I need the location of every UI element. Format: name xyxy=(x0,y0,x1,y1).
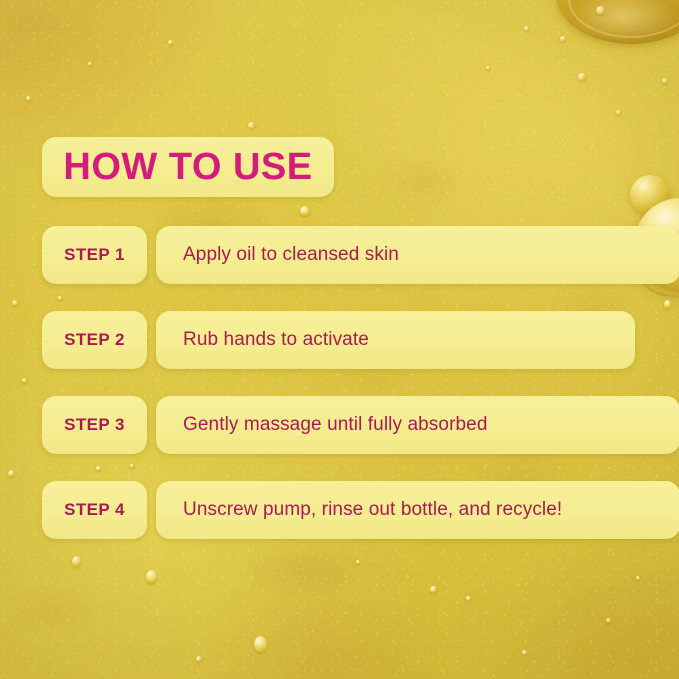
step-description-card: Rub hands to activate xyxy=(156,311,635,369)
step-description-text: Gently massage until fully absorbed xyxy=(183,414,488,436)
step-description-text: Apply oil to cleansed skin xyxy=(183,244,399,266)
how-to-use-heading-card: HOW TO USE xyxy=(42,137,334,197)
step-number-label: STEP 4 xyxy=(64,500,125,520)
step-number-label: STEP 2 xyxy=(64,330,125,350)
step-description-card: Unscrew pump, rinse out bottle, and recy… xyxy=(156,481,679,539)
step-number-label: STEP 3 xyxy=(64,415,125,435)
step-number-chip: STEP 3 xyxy=(42,396,147,454)
step-number-chip: STEP 1 xyxy=(42,226,147,284)
step-description-text: Rub hands to activate xyxy=(183,329,369,351)
step-description-card: Gently massage until fully absorbed xyxy=(156,396,679,454)
step-number-chip: STEP 4 xyxy=(42,481,147,539)
step-description-text: Unscrew pump, rinse out bottle, and recy… xyxy=(183,499,562,521)
step-number-chip: STEP 2 xyxy=(42,311,147,369)
step-description-card: Apply oil to cleansed skin xyxy=(156,226,679,284)
step-number-label: STEP 1 xyxy=(64,245,125,265)
page-title: HOW TO USE xyxy=(63,148,312,186)
